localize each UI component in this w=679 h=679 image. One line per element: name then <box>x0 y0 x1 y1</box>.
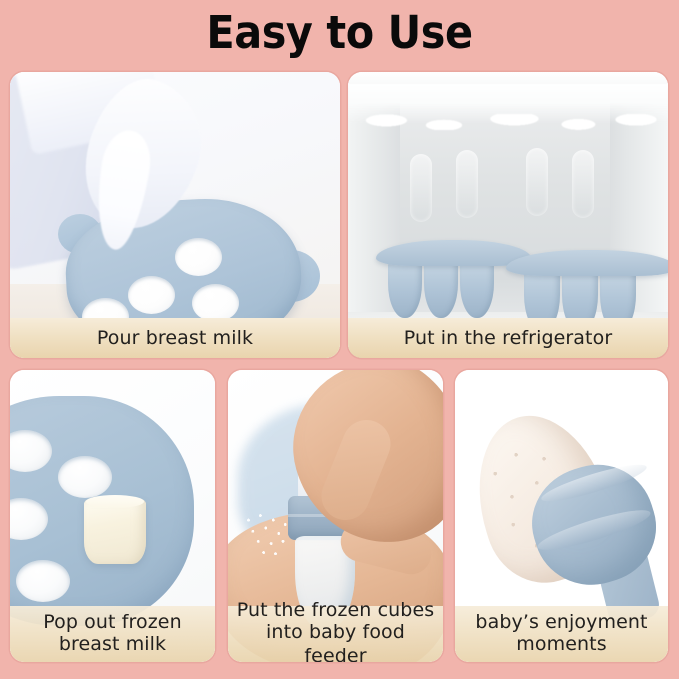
tray-well <box>128 276 175 314</box>
caption-text-line2: into baby food feeder <box>232 620 439 662</box>
freezer-ridge <box>526 148 548 216</box>
panel-caption: Put in the refrigerator <box>348 318 668 358</box>
step-panel-pop-out-frozen-breast-milk[interactable]: Pop out frozen breast milk <box>10 370 215 662</box>
step-panel-pour-breast-milk[interactable]: Pour breast milk <box>10 72 340 358</box>
panel-caption: Pour breast milk <box>10 318 340 358</box>
step-panel-babys-enjoyment-moments[interactable]: baby’s enjoyment moments <box>455 370 668 662</box>
freezer-ridge <box>572 150 594 218</box>
freezer-ridge <box>410 154 432 222</box>
panel-caption: Pop out frozen breast milk <box>10 606 215 662</box>
caption-text: Put in the refrigerator <box>404 326 613 350</box>
caption-text-line1: Pop out frozen <box>43 610 181 634</box>
caption-text-line1: Put the frozen cubes <box>237 598 434 622</box>
caption-text-line1: baby’s enjoyment <box>475 610 647 634</box>
tray-lid <box>506 250 668 276</box>
tray-well <box>175 238 222 276</box>
caption-text-line2: breast milk <box>59 632 166 656</box>
page-title: Easy to Use <box>27 4 652 62</box>
step-panel-put-cubes-into-feeder[interactable]: Put the frozen cubes into baby food feed… <box>228 370 443 662</box>
frozen-milk-well <box>16 560 70 602</box>
frozen-milk-cube <box>84 498 146 564</box>
photo-pour-breast-milk <box>10 72 340 358</box>
panel-caption: Put the frozen cubes into baby food feed… <box>228 606 443 662</box>
frost-layer <box>348 84 668 124</box>
caption-text: Pour breast milk <box>97 326 253 350</box>
photo-put-in-refrigerator <box>348 72 668 358</box>
panel-caption: baby’s enjoyment moments <box>455 606 668 662</box>
freezer-ridge <box>456 150 478 218</box>
tray-lid <box>376 240 531 266</box>
tray-cup <box>388 260 422 318</box>
frozen-milk-well <box>58 456 112 498</box>
tray-cups <box>388 260 494 318</box>
caption-text-line2: moments <box>516 632 606 656</box>
tray-cup <box>460 260 494 318</box>
step-panel-put-in-refrigerator[interactable]: Put in the refrigerator <box>348 72 668 358</box>
tray-cup <box>424 260 458 318</box>
tray-well <box>192 284 239 322</box>
